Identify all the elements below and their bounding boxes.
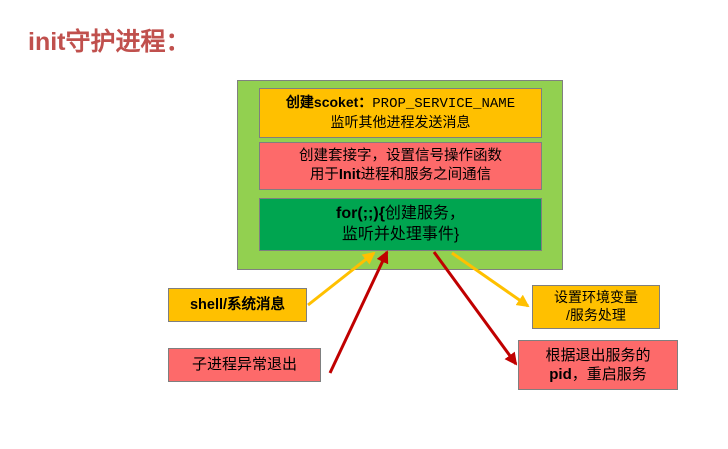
restart-box-line-2-pid: pid [549, 366, 572, 383]
env-box: 设置环境变量 /服务处理 [532, 285, 660, 329]
shell-box: shell/系统消息 [168, 288, 307, 322]
env-box-line-1: 设置环境变量 [554, 289, 638, 307]
restart-box-line-2-text: ，重启服务 [572, 366, 647, 383]
signal-box-line-2-c: 进程和服务之间通信 [361, 167, 492, 183]
child-exit-box-label: 子进程异常退出 [192, 355, 297, 374]
signal-box: 创建套接字，设置信号操作函数 用于Init进程和服务之间通信 [259, 142, 542, 190]
restart-box-line-1: 根据退出服务的 [545, 346, 650, 365]
loop-box-line-1: for(;;){创建服务， [336, 204, 465, 224]
signal-box-line-1: 创建套接字，设置信号操作函数 [299, 147, 502, 166]
restart-box: 根据退出服务的 pid，重启服务 [518, 340, 678, 390]
socket-box-line-1: 创建scoket：PROP_SERVICE_NAME [286, 94, 515, 114]
signal-box-line-2-a: 用于 [310, 167, 339, 183]
restart-box-line-2: pid，重启服务 [549, 365, 647, 384]
loop-box-line-2: 监听并处理事件} [342, 225, 459, 245]
page-title: init守护进程： [28, 27, 191, 57]
signal-box-line-2: 用于Init进程和服务之间通信 [310, 166, 491, 185]
loop-box: for(;;){创建服务， 监听并处理事件} [259, 198, 542, 251]
loop-box-line-1-text: 创建服务， [385, 205, 465, 222]
socket-box-line-1-constant: PROP_SERVICE_NAME [372, 96, 515, 112]
socket-box-line-2: 监听其他进程发送消息 [331, 114, 471, 132]
loop-box-line-1-code: for(;;){ [336, 205, 385, 222]
env-box-line-2: /服务处理 [566, 307, 626, 325]
child-exit-box: 子进程异常退出 [168, 348, 321, 382]
shell-box-label: shell/系统消息 [190, 296, 285, 315]
slide-canvas: init守护进程： 创建scoket：PROP_SERVICE_NAME 监听其… [0, 0, 728, 449]
signal-box-line-2-b: Init [339, 167, 361, 183]
socket-box: 创建scoket：PROP_SERVICE_NAME 监听其他进程发送消息 [259, 88, 542, 138]
arrow-childexit-to-loop [330, 252, 387, 373]
socket-box-line-1-prefix: 创建scoket： [286, 94, 372, 110]
